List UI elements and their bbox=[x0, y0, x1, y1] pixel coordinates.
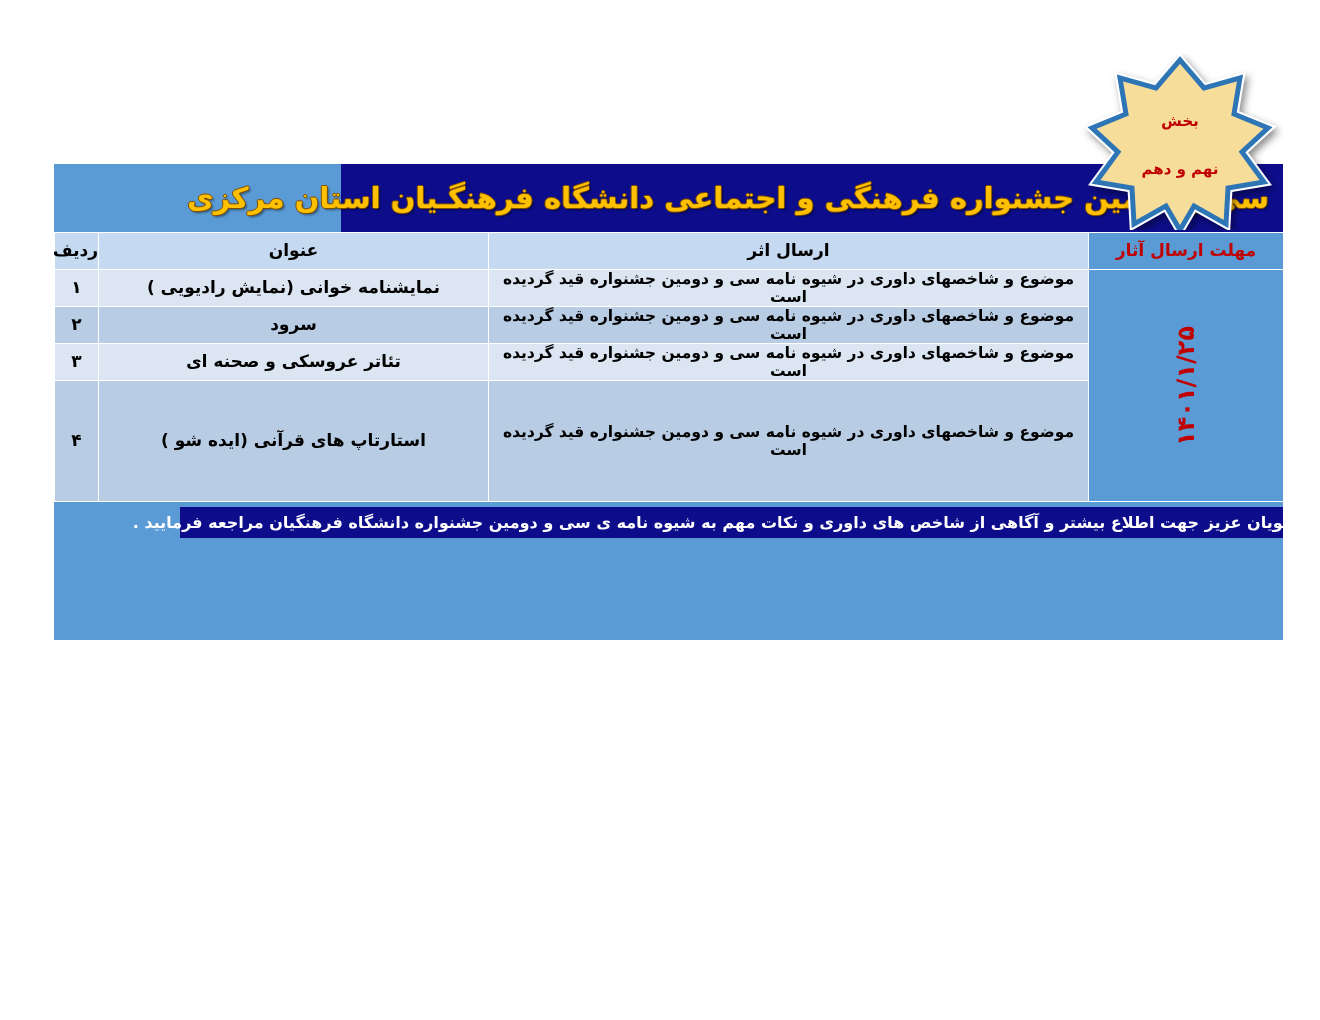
eight-point-star-icon bbox=[1076, 54, 1284, 230]
table-row: ۱۴۰۱/۱/۲۵ موضوع و شاخصهای داوری در شیوه … bbox=[55, 270, 1284, 307]
event-title: استارتاپ های قرآنی (ایده شو ) bbox=[99, 381, 489, 502]
table-header-row: مهلت ارسال آثار ارسال اثر عنوان ردیف bbox=[55, 233, 1284, 270]
submission-text: موضوع و شاخصهای داوری در شیوه نامه سی و … bbox=[489, 344, 1089, 381]
section-badge: بخش نهم و دهم bbox=[1076, 54, 1284, 230]
column-header-index: ردیف bbox=[55, 233, 99, 270]
deadline-value: ۱۴۰۱/۱/۲۵ bbox=[1172, 325, 1200, 445]
event-title: سرود bbox=[99, 307, 489, 344]
column-header-title: عنوان bbox=[99, 233, 489, 270]
submission-text: موضوع و شاخصهای داوری در شیوه نامه سی و … bbox=[489, 270, 1089, 307]
event-title: نمایشنامه خوانی (نمایش رادیویی ) bbox=[99, 270, 489, 307]
badge-line-2: نهم و دهم bbox=[1076, 160, 1284, 178]
column-header-submission: ارسال اثر bbox=[489, 233, 1089, 270]
deadline-cell: ۱۴۰۱/۱/۲۵ bbox=[1089, 270, 1284, 502]
row-index: ۳ bbox=[55, 344, 99, 381]
row-index: ۲ bbox=[55, 307, 99, 344]
column-header-deadline: مهلت ارسال آثار bbox=[1089, 233, 1284, 270]
submission-text: موضوع و شاخصهای داوری در شیوه نامه سی و … bbox=[489, 307, 1089, 344]
row-index: ۴ bbox=[55, 381, 99, 502]
event-title: تئاتر عروسکی و صحنه ای bbox=[99, 344, 489, 381]
row-index: ۱ bbox=[55, 270, 99, 307]
footer-notice-text: دانشجویان عزیز جهت اطلاع بیشتر و آگاهی ا… bbox=[133, 513, 1320, 532]
events-table: مهلت ارسال آثار ارسال اثر عنوان ردیف ۱۴۰… bbox=[54, 232, 1284, 502]
badge-line-1: بخش bbox=[1076, 112, 1284, 130]
footer-notice-band: دانشجویان عزیز جهت اطلاع بیشتر و آگاهی ا… bbox=[180, 507, 1283, 538]
submission-text: موضوع و شاخصهای داوری در شیوه نامه سی و … bbox=[489, 381, 1089, 502]
